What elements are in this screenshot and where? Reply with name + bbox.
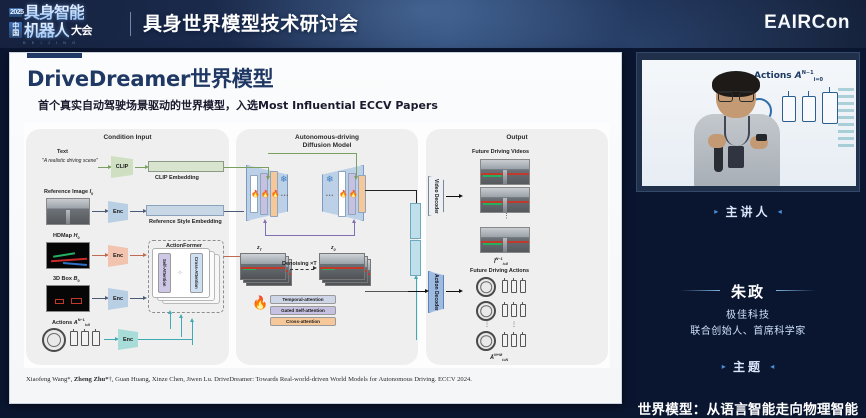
video-pedal-icon-1: [782, 96, 796, 122]
diffusion-label-line2: Diffusion Model: [303, 142, 352, 149]
output-label: Output: [426, 134, 608, 142]
future-action-pedal-nc: [520, 334, 526, 347]
condition-bus-line: [265, 235, 355, 236]
flame-icon-enc-3: 🔥: [271, 191, 280, 198]
denoising-dashed-arrow: [290, 269, 314, 270]
logo-footer-text: B E I J I N G: [23, 40, 121, 45]
arrow-text-to-clip: [98, 167, 109, 168]
enc-reference-image: Enc: [108, 201, 128, 223]
speaker-organization: 极佳科技: [630, 306, 866, 321]
slide-title: DriveDreamer世界模型: [27, 63, 273, 93]
unet-dec-bar-cross: [358, 175, 366, 213]
speaker-sidebar: Actions AN−1i=0 ▸ 主讲人: [630, 48, 866, 408]
latent-z0-subscript: 0: [334, 248, 336, 252]
enc-actions: Enc: [118, 329, 138, 350]
future-action-wheel-n: [476, 331, 496, 351]
reference-image-label: Reference Image I0: [44, 189, 93, 198]
flame-icon-dec-1: 🔥: [339, 191, 348, 198]
future-actions-ellipsis-left: ⋮: [484, 323, 490, 327]
enc-box3d: Enc: [108, 288, 128, 310]
speaker-badge: [728, 146, 744, 168]
drivedreamer-architecture-diagram: Condition Input Autonomous-driving Diffu…: [24, 123, 610, 368]
speaker-glasses: [718, 91, 754, 99]
video-pedal-icon-3: [822, 92, 838, 124]
clip-embedding-label: CLIP Embedding: [155, 175, 199, 182]
unet-dec-ellipsis: •••: [326, 193, 334, 199]
action-decoder-block: Action Decoder: [428, 271, 444, 313]
future-action-pedal-1b: [511, 280, 517, 293]
reference-image-thumbnail: [46, 198, 90, 225]
future-action-wheel-2: [476, 301, 496, 321]
noisy-latent-stack-1: [240, 253, 286, 280]
hdmap-thumbnail: [46, 242, 90, 269]
hdmap-subscript: 0: [77, 236, 79, 240]
header-divider: [130, 12, 131, 36]
speaker-left-hand: [708, 134, 726, 148]
video-pedal-icon-2: [802, 96, 816, 122]
actions-text: Actions: [52, 320, 72, 326]
clip-route-horizontal: [224, 167, 268, 168]
triangle-right-icon: ◂: [778, 207, 782, 216]
condition-input-label: Condition Input: [26, 134, 229, 142]
video-actions-subscript: i=0: [814, 77, 823, 83]
clip-route-top: [268, 153, 356, 154]
future-action-pedal-2c: [520, 304, 526, 317]
speaker-video-content: Actions AN−1i=0: [642, 60, 856, 186]
future-actions-label: Future Driving Actions: [470, 268, 529, 275]
future-action-pedal-na: [502, 334, 508, 347]
legend-gated-self-attention: Gated Self-attention: [270, 306, 336, 315]
flame-icon-enc-2: 🔥: [261, 191, 270, 198]
future-videos-symbol-label: ÎN−1i=0: [494, 256, 508, 268]
latent-zt-subscript: T: [260, 248, 262, 252]
arrow-refimage-to-enc: [92, 211, 106, 212]
speaker-role: 联合创始人、首席科学家: [630, 322, 866, 337]
speaker-lanyard: [724, 116, 750, 146]
future-action-pedal-nb: [511, 334, 517, 347]
arrow-clip-to-embedding: [135, 167, 146, 168]
pedal-icon-2: [81, 331, 89, 346]
arrow-enc-box3d-to-actionformer: [130, 298, 144, 299]
cross-attention-block-actionformer: Cross-Attention: [190, 253, 203, 293]
video-decor-pattern: [838, 88, 854, 148]
arrow-hdmap-to-enc: [92, 255, 106, 256]
video-actions-superscript: N−1: [802, 70, 814, 76]
reference-style-embedding-bar: [146, 205, 224, 216]
future-actions-symbol-label: ÂN+Mi=N: [490, 352, 508, 364]
text-prompt: "A realistic driving scene": [40, 158, 100, 165]
steering-wheel-icon: [42, 328, 66, 352]
snowflake-icon-enc: ❄: [280, 175, 288, 184]
citation-rest: †, Guan Huang, Xinze Chen, Jiwen Lu. Dri…: [109, 376, 472, 383]
speaker-clicker: [756, 134, 767, 141]
logo-country-badge: 中国: [9, 22, 22, 38]
denoising-label: Denoising ×T: [282, 261, 317, 268]
future-videos-subscript: i=0: [503, 262, 508, 266]
clip-embedding-bar: [148, 161, 224, 172]
future-videos-ellipsis: ⋮: [503, 215, 510, 219]
video-actions-symbol: A: [795, 71, 802, 81]
actions-label: Actions AN−1i=0: [52, 317, 90, 329]
logo-line-one: 具身智能: [24, 4, 84, 21]
hdmap-text: HDMap: [53, 233, 72, 239]
future-action-pedal-1c: [520, 280, 526, 293]
future-action-pedal-2a: [502, 304, 508, 317]
future-videos-superscript: N−1: [496, 257, 503, 261]
logo-year-badge: 2025: [9, 8, 22, 17]
future-video-frame-1: [480, 159, 530, 185]
self-attention-block: Self-Attention: [158, 253, 171, 293]
box3d-text: 3D Box: [53, 276, 72, 282]
topic-triangle-left-icon: ▸: [722, 362, 726, 371]
style-route-horizontal: [224, 211, 244, 212]
citation-authors-pre: Xiaofeng Wang*,: [26, 376, 74, 383]
diffusion-label-line1: Autonomous-driving: [295, 134, 359, 141]
legend-cross-attention: Cross-attention: [270, 317, 336, 326]
speaker-video-frame[interactable]: Actions AN−1i=0: [636, 52, 860, 192]
reference-style-embedding-label: Reference Style Embedding: [149, 219, 222, 226]
actions-superscript: N−1: [78, 318, 85, 322]
clip-encoder-block: CLIP: [111, 156, 133, 178]
logo-row-top: 2025 具身智能: [9, 4, 121, 21]
box3d-thumbnail: [46, 285, 90, 312]
clip-route-down: [356, 153, 357, 167]
conference-session-title: 具身世界模型技术研讨会: [143, 11, 359, 37]
text-label: Text: [57, 149, 68, 156]
latent-to-decoder-line: [365, 190, 417, 191]
presentation-slide: DriveDreamer世界模型 首个真实自动驾驶场景驱动的世界模型，入选Mos…: [9, 52, 622, 404]
flame-icon-legend: 🔥: [252, 299, 268, 306]
citation-author-highlight: Zheng Zhu*: [74, 376, 109, 383]
arrow-action-decoder-to-actions: [446, 291, 460, 292]
arrow-actions-up-3: [192, 321, 193, 345]
future-action-pedal-2b: [511, 304, 517, 317]
talk-topic-title: 世界模型：从语言智能走向物理智能: [626, 398, 866, 418]
conference-logo: 2025 具身智能 中国 机器人 大会 B E I J I N G: [9, 4, 121, 44]
arrow-box3d-to-enc: [92, 298, 106, 299]
legend-temporal-attention: Temporal-attention: [270, 295, 336, 304]
topic-section-text: 主题: [733, 360, 763, 374]
speaker-section-text: 主讲人: [725, 205, 770, 219]
conference-header-bar: 2025 具身智能 中国 机器人 大会 B E I J I N G 具身世界模型…: [0, 0, 866, 48]
title-accent-bar: [27, 53, 82, 58]
future-video-frame-2: [480, 187, 530, 213]
actionformer-plus-icon: ✧: [177, 269, 183, 277]
future-action-pedal-1a: [502, 280, 508, 293]
reference-image-text: Reference Image: [44, 189, 88, 195]
reference-image-subscript: 0: [91, 192, 93, 196]
logo-row-bottom: 中国 机器人 大会: [9, 22, 121, 39]
speaker-figure: [694, 74, 780, 186]
arrow-to-action-decoder: [408, 291, 426, 292]
speaker-name: 朱政: [630, 281, 866, 302]
logo-line-two: 机器人: [24, 22, 69, 39]
video-decoder-block: Video Decoder: [428, 176, 444, 216]
slide-subtitle: 首个真实自动驾驶场景驱动的世界模型，入选Most Influential ECC…: [38, 97, 438, 113]
unet-enc-ellipsis: •••: [281, 193, 289, 199]
denoised-latent-stack-1: [319, 253, 365, 280]
arrow-actions-to-buffer: [416, 278, 417, 340]
future-video-frame-n: [480, 227, 530, 253]
arrow-actions-to-enc: [104, 339, 116, 340]
triangle-left-icon: ▸: [714, 207, 718, 216]
arrow-condition-into-unet-enc: [265, 222, 266, 236]
latent-to-decoder-drop: [416, 190, 417, 204]
paper-citation: Xiaofeng Wang*, Zheng Zhu*†, Guan Huang,…: [26, 375, 608, 384]
topic-triangle-right-icon: ◂: [770, 362, 774, 371]
arrow-clip-into-unet-enc: [268, 167, 269, 177]
box3d-subscript: 0: [77, 279, 79, 283]
pedal-icon-3: [92, 331, 100, 346]
latent-buffer-top: [410, 203, 421, 239]
pedal-icon-1: [70, 331, 78, 346]
arrow-enc-to-style-embedding: [130, 211, 144, 212]
box3d-label: 3D Box B0: [53, 276, 80, 285]
arrow-actions-up-1: [170, 313, 171, 329]
snowflake-icon-dec: ❄: [326, 175, 334, 184]
logo-line-two-suffix: 大会: [71, 25, 92, 36]
diffusion-model-label: Autonomous-driving Diffusion Model: [236, 134, 418, 150]
hdmap-label: HDMap H0: [53, 233, 80, 242]
flame-icon-enc-1: 🔥: [251, 191, 260, 198]
diffusion-model-panel: Autonomous-driving Diffusion Model: [236, 129, 418, 365]
future-action-wheel-1: [476, 277, 496, 297]
arrow-clip-into-unet-dec: [356, 167, 357, 177]
actions-bus-line: [138, 339, 192, 340]
future-actions-superscript: N+M: [494, 353, 502, 357]
eaircon-brand-logo: EAIRCon: [764, 12, 850, 34]
enc-hdmap: Enc: [108, 245, 128, 267]
actions-subscript: i=0: [85, 323, 90, 327]
future-actions-subscript: i=N: [502, 358, 508, 362]
arrow-video-decoder-to-videos: [446, 196, 460, 197]
latent-buffer-bottom: [410, 240, 421, 276]
topic-section-heading: ▸ 主题 ◂: [630, 358, 866, 375]
arrow-actions-up-2: [181, 317, 182, 337]
future-actions-ellipsis-right: ⋮: [511, 323, 517, 327]
future-videos-label: Future Driving Videos: [472, 149, 529, 156]
flame-icon-dec-2: 🔥: [349, 191, 358, 198]
arrow-enc-hdmap-to-actionformer: [130, 255, 144, 256]
arrow-condition-into-unet-dec: [354, 222, 355, 236]
speaker-section-heading: ▸ 主讲人 ◂: [630, 203, 866, 220]
